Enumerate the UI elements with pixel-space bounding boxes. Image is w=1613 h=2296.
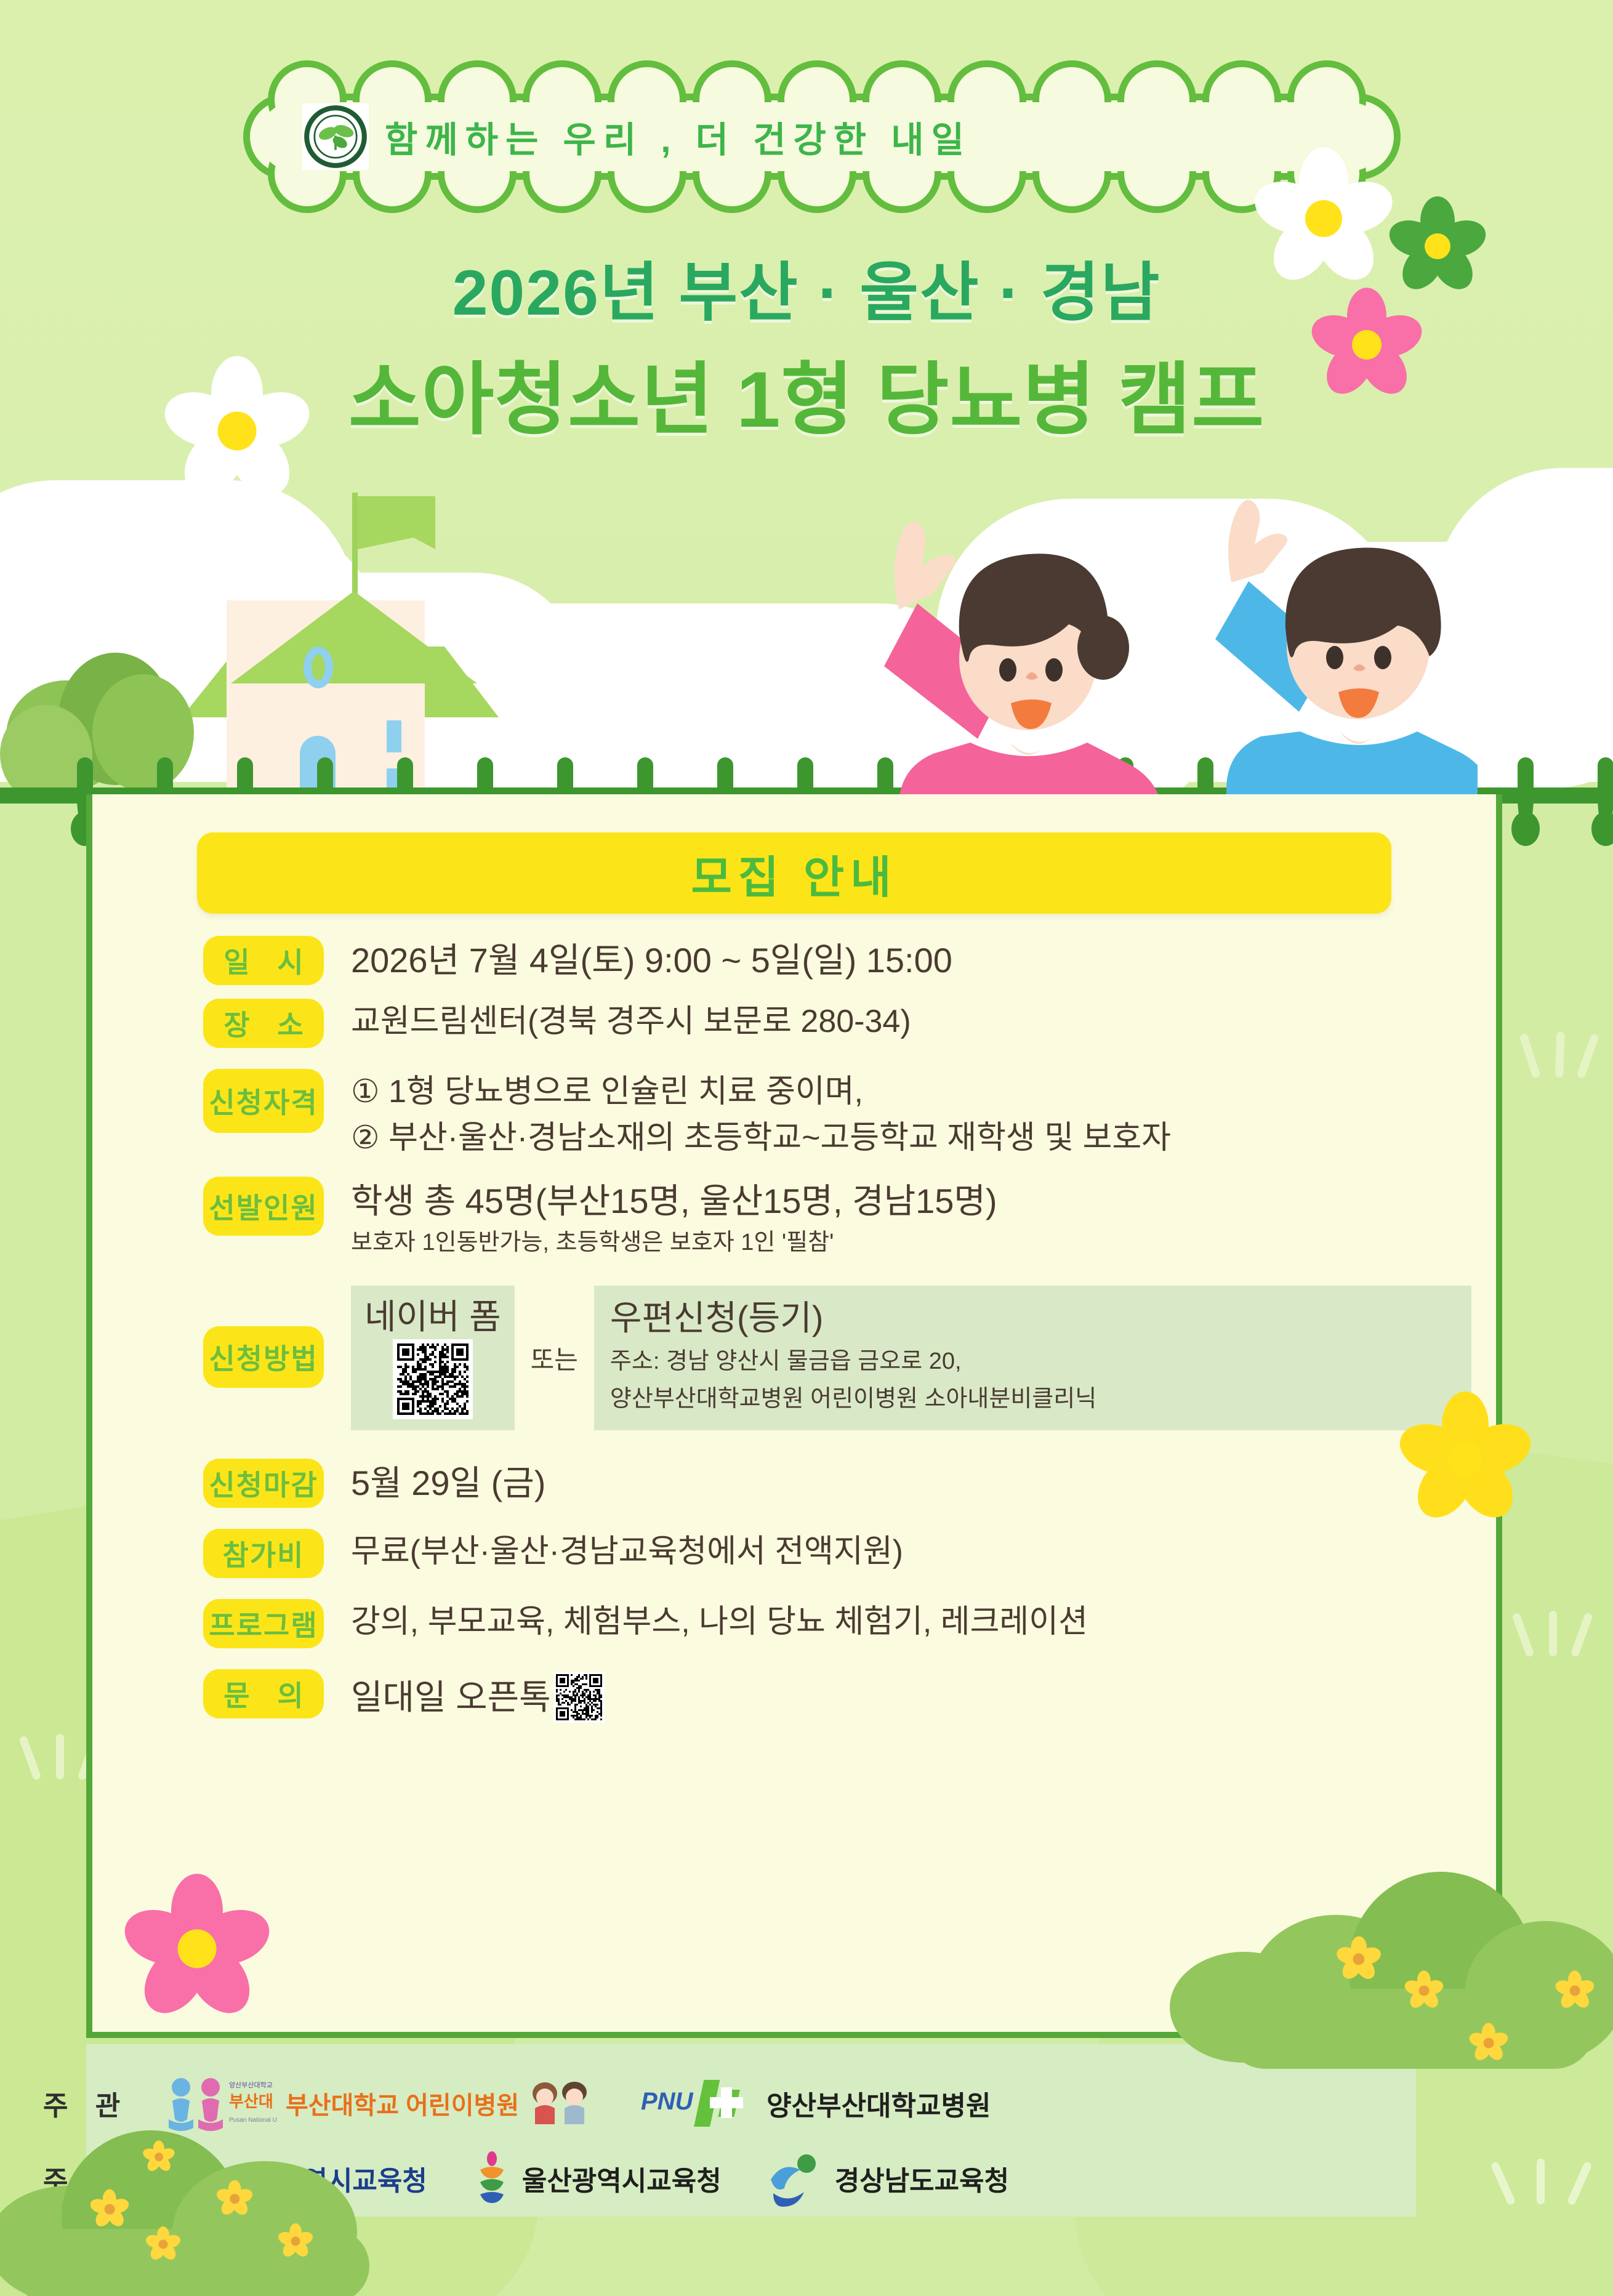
fence-post: [1518, 757, 1534, 825]
flower-white-icon: [172, 366, 302, 496]
flower-yellow-icon: [1339, 1940, 1378, 1979]
flower-core: [1425, 233, 1450, 259]
info-row-deadline: 신청마감 5월 29일 (금): [203, 1459, 1471, 1508]
info-row-fee: 참가비 무료(부산·울산·경남교육청에서 전액지원): [203, 1529, 1471, 1578]
row-value-place: 교원드림센터(경북 경주시 보문로 280-34): [351, 1001, 1471, 1042]
footer-org-gyeongnam-edu: 경상남도교육청: [765, 2149, 1009, 2208]
row-value-fee: 무료(부산·울산·경남교육청에서 전액지원): [351, 1531, 1471, 1573]
naver-form-label: 네이버 폼: [364, 1289, 501, 1339]
flower-yellow-icon: [1471, 2026, 1506, 2060]
row-label-place: 장 소: [203, 999, 324, 1048]
row-label-inquiry: 문 의: [203, 1669, 324, 1718]
row-note-quota: 보호자 1인동반가능, 초등학생은 보호자 1인 '필참': [351, 1227, 1471, 1259]
footer-organizer-name-2: 울산광역시교육청: [522, 2159, 722, 2198]
slogan-banner: 함께하는 우리 , 더 건강한 내일: [243, 94, 1401, 180]
apply-or-label: 또는: [525, 1339, 584, 1377]
flower-yellow-icon: [1558, 1973, 1592, 2008]
qr-code-icon-naver[interactable]: [393, 1339, 473, 1419]
grass-tuft: [1521, 1589, 1595, 1656]
bush-right: [1170, 1859, 1613, 2056]
info-row-inquiry: 문 의 일대일 오픈톡: [203, 1669, 1471, 1723]
postal-address-1: 주소: 경남 양산시 물금읍 금오로 20,: [610, 1345, 1453, 1377]
row-label-apply: 신청방법: [203, 1326, 324, 1388]
flower-core: [230, 2194, 239, 2204]
pnu-yangsan-hospital-logo-icon: PNU: [641, 2075, 758, 2132]
info-card: 모집 안내 일 시 2026년 7월 4일(토) 9:00 ~ 5일(일) 15…: [86, 794, 1502, 2038]
row-label-program: 프로그램: [203, 1599, 324, 1648]
footer-org-pnuyh: PNU 양산부산대학교병원: [641, 2075, 991, 2132]
flower-pink-icon: [1317, 296, 1416, 394]
flower-core: [1484, 2038, 1494, 2048]
row-label-date: 일 시: [203, 936, 324, 985]
ulsan-education-office-logo-icon: [470, 2149, 513, 2208]
info-row-eligibility: 신청자격 ① 1형 당뇨병으로 인슐린 치료 중이며, ② 부산·울산·경남소재…: [203, 1069, 1471, 1158]
row-value-date: 2026년 7월 4일(토) 9:00 ~ 5일(일) 15:00: [351, 938, 1471, 983]
flower-yellow-icon: [1407, 1973, 1441, 2008]
flower-core: [291, 2237, 300, 2246]
flower-yellow-icon: [145, 2143, 173, 2171]
flower-yellow-icon: [280, 2226, 311, 2257]
flower-core: [1419, 1986, 1430, 1996]
info-row-place: 장 소 교원드림센터(경북 경주시 보문로 280-34): [203, 999, 1471, 1048]
row-label-eligibility: 신청자격: [203, 1069, 324, 1133]
flower-yellow-icon: [92, 2192, 127, 2226]
postal-address-2: 양산부산대학교병원 어린이병원 소아내분비클리닉: [610, 1383, 1453, 1415]
flower-core: [1570, 1986, 1580, 1996]
apply-naver-form[interactable]: 네이버 폼: [351, 1286, 515, 1430]
apply-postal: 우편신청(등기) 주소: 경남 양산시 물금읍 금오로 20, 양산부산대학교병…: [594, 1286, 1471, 1430]
footer-host-name-2: 양산부산대학교병원: [766, 2084, 991, 2123]
grass-tuft: [1502, 2130, 1595, 2204]
info-row-apply: 신청방법 네이버 폼 또는 우편신청(등기) 주소: 경남 양산시 물금읍 금오…: [203, 1283, 1471, 1430]
info-row-quota: 선발인원 학생 총 45명(부산15명, 울산15명, 경남15명) 보호자 1…: [203, 1177, 1471, 1259]
flower-pink-icon: [132, 1884, 262, 2013]
section-heading: 모집 안내: [197, 832, 1391, 914]
row-label-quota: 선발인원: [203, 1177, 324, 1236]
bush-left: [0, 2093, 419, 2296]
grass-tuft: [1527, 1010, 1601, 1078]
flower-core: [1305, 200, 1342, 237]
house-illustration: [148, 493, 591, 813]
flower-white-icon: [1262, 157, 1385, 280]
flower-yellow-icon: [1407, 1401, 1524, 1518]
row-value-quota: 학생 총 45명(부산15명, 울산15명, 경남15명): [351, 1179, 1471, 1223]
flower-core: [178, 1930, 217, 1968]
info-row-date: 일 시 2026년 7월 4일(토) 9:00 ~ 5일(일) 15:00: [203, 936, 1471, 985]
flower-green-icon: [1394, 203, 1481, 289]
qr-code-icon-opentalk[interactable]: [553, 1672, 605, 1723]
flower-core: [1448, 1442, 1483, 1477]
gyeongnam-education-office-logo-icon: [765, 2149, 826, 2208]
info-rows: 일 시 2026년 7월 4일(토) 9:00 ~ 5일(일) 15:00 장 …: [92, 936, 1496, 1723]
flower-core: [1352, 330, 1382, 360]
row-value-deadline: 5월 29일 (금): [351, 1461, 1471, 1505]
postal-title: 우편신청(등기): [610, 1291, 1453, 1340]
slogan-text: 함께하는 우리 , 더 건강한 내일: [385, 94, 1376, 180]
row-label-fee: 참가비: [203, 1529, 324, 1578]
svg-text:PNU: PNU: [641, 2088, 694, 2115]
footer-organizer-name-3: 경상남도교육청: [835, 2159, 1009, 2198]
row-value-program: 강의, 부모교육, 체험부스, 나의 당뇨 체험기, 레크레이션: [351, 1601, 1471, 1643]
camp-logo-icon: [302, 103, 369, 170]
row-value-eligibility-1: ① 1형 당뇨병으로 인슐린 치료 중이며,: [351, 1071, 1471, 1113]
footer-org-ulsan-edu: 울산광역시교육청: [470, 2149, 722, 2208]
svg-text:양산부산대학교: 양산부산대학교: [229, 2081, 273, 2089]
flower-core: [159, 2240, 168, 2249]
tree-shape: [92, 674, 194, 791]
flower-core: [218, 412, 257, 451]
flower-yellow-icon: [148, 2229, 179, 2260]
poster-root: 함께하는 우리 , 더 건강한 내일 2026년 부산 · 울산 · 경남 소아…: [0, 0, 1613, 2296]
flower-core: [105, 2204, 115, 2215]
info-row-program: 프로그램 강의, 부모교육, 체험부스, 나의 당뇨 체험기, 레크레이션: [203, 1599, 1471, 1648]
flower-core: [155, 2153, 163, 2161]
flower-yellow-icon: [219, 2183, 251, 2215]
mascot-children-icon: [524, 2079, 598, 2128]
fence-post: [1598, 757, 1613, 825]
row-value-inquiry: 일대일 오픈톡: [351, 1675, 551, 1720]
row-value-eligibility-2: ② 부산·울산·경남소재의 초등학교~고등학교 재학생 및 보호자: [351, 1118, 1471, 1159]
row-label-deadline: 신청마감: [203, 1459, 324, 1508]
